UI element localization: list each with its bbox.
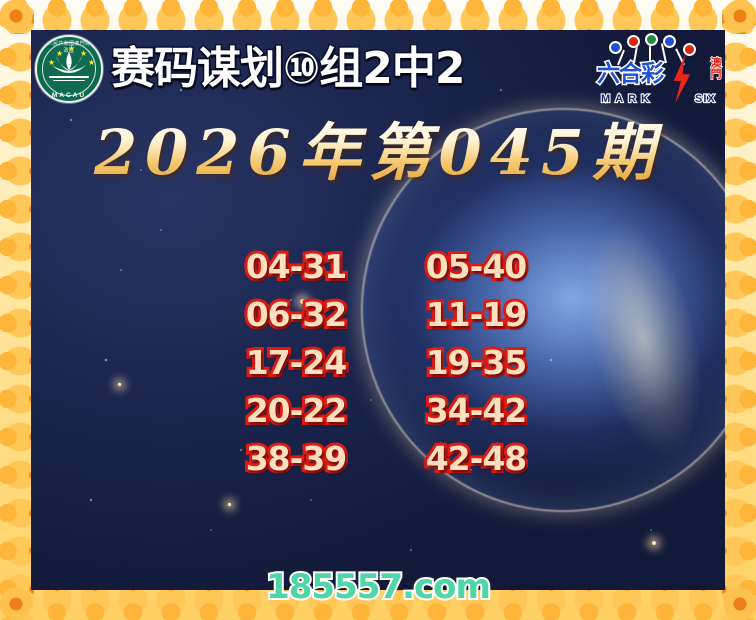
lottery-ball-icon	[627, 35, 640, 48]
bright-star	[651, 540, 657, 546]
space-background-panel: 中華人民共和國澳門特別行政區 ★ ★ ★ ★ ★ MACAU	[31, 30, 725, 590]
bright-star	[227, 502, 232, 507]
emblem-water-lines	[49, 76, 89, 85]
lottery-ball-icon	[663, 35, 676, 48]
number-row: 20-22 34-42	[221, 392, 551, 430]
border-right	[722, 0, 756, 620]
number-pair: 17-24	[221, 344, 371, 382]
lottery-ball-icon	[645, 33, 658, 46]
number-row: 04-31 05-40	[221, 248, 551, 286]
corner-motif-top-right	[720, 0, 756, 36]
border-top	[0, 0, 756, 34]
mark-six-mark-word: MARK	[601, 93, 654, 105]
lightning-bolt-icon	[669, 55, 695, 103]
page-title: 赛码谋划⑩组2中2	[111, 47, 587, 91]
border-left	[0, 0, 34, 620]
header: 中華人民共和國澳門特別行政區 ★ ★ ★ ★ ★ MACAU	[31, 30, 725, 108]
number-pair: 38-39	[221, 440, 371, 478]
mark-six-six-word: SIX	[695, 93, 716, 105]
number-pair: 05-40	[401, 248, 551, 286]
mark-six-cn-label: 六合彩	[597, 63, 663, 86]
site-watermark: 185557.com	[0, 568, 756, 606]
number-pair: 06-32	[221, 296, 371, 334]
bright-star	[117, 382, 122, 387]
mark-six-logo: 六合彩 MARK SIX 澳門	[591, 33, 719, 105]
lottery-poster: 中華人民共和國澳門特別行政區 ★ ★ ★ ★ ★ MACAU	[0, 0, 756, 620]
number-row: 38-39 42-48	[221, 440, 551, 478]
emblem-wordmark: MACAU	[37, 92, 101, 99]
number-pair: 19-35	[401, 344, 551, 382]
lottery-ball-icon	[609, 41, 622, 54]
number-row: 17-24 19-35	[221, 344, 551, 382]
macau-sar-emblem-icon: 中華人民共和國澳門特別行政區 ★ ★ ★ ★ ★ MACAU	[35, 35, 103, 103]
number-row: 06-32 11-19	[221, 296, 551, 334]
mark-six-side-text: 澳門	[710, 57, 721, 79]
number-pair: 34-42	[401, 392, 551, 430]
number-pair: 04-31	[221, 248, 371, 286]
number-pair: 20-22	[221, 392, 371, 430]
number-pair: 42-48	[401, 440, 551, 478]
lottery-ball-icon	[683, 43, 696, 56]
number-pair: 11-19	[401, 296, 551, 334]
lotus-icon	[50, 51, 88, 77]
issue-headline: 2026年第045期	[31, 114, 725, 192]
number-grid: 04-31 05-40 06-32 11-19 17-24 19-35 20-2…	[221, 248, 551, 488]
